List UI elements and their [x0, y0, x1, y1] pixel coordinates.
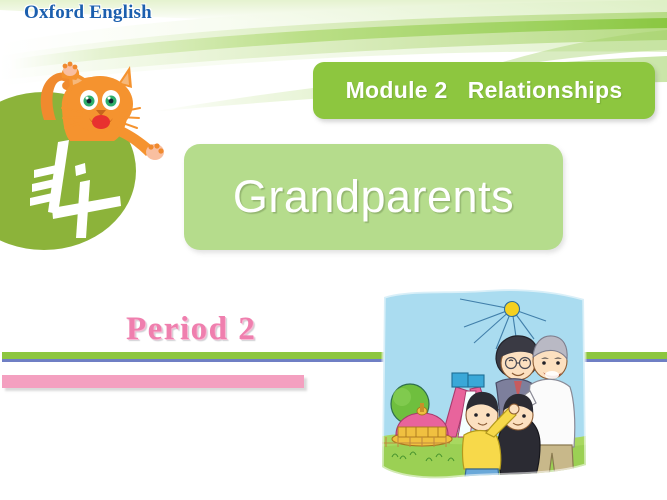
slide-canvas: Oxford English: [0, 0, 667, 500]
cat-mascot-icon: [18, 48, 168, 168]
module-banner: Module 2 Relationships: [313, 62, 655, 119]
lesson-title-label: Grandparents: [233, 171, 514, 223]
lesson-title-box: Grandparents: [184, 144, 563, 250]
period-label: Period 2: [126, 311, 256, 348]
oxford-english-logo: Oxford English: [24, 2, 152, 24]
family-at-park-illustration: [378, 287, 590, 485]
divider-pink: [2, 375, 304, 388]
module-banner-label: Module 2 Relationships: [346, 77, 623, 104]
